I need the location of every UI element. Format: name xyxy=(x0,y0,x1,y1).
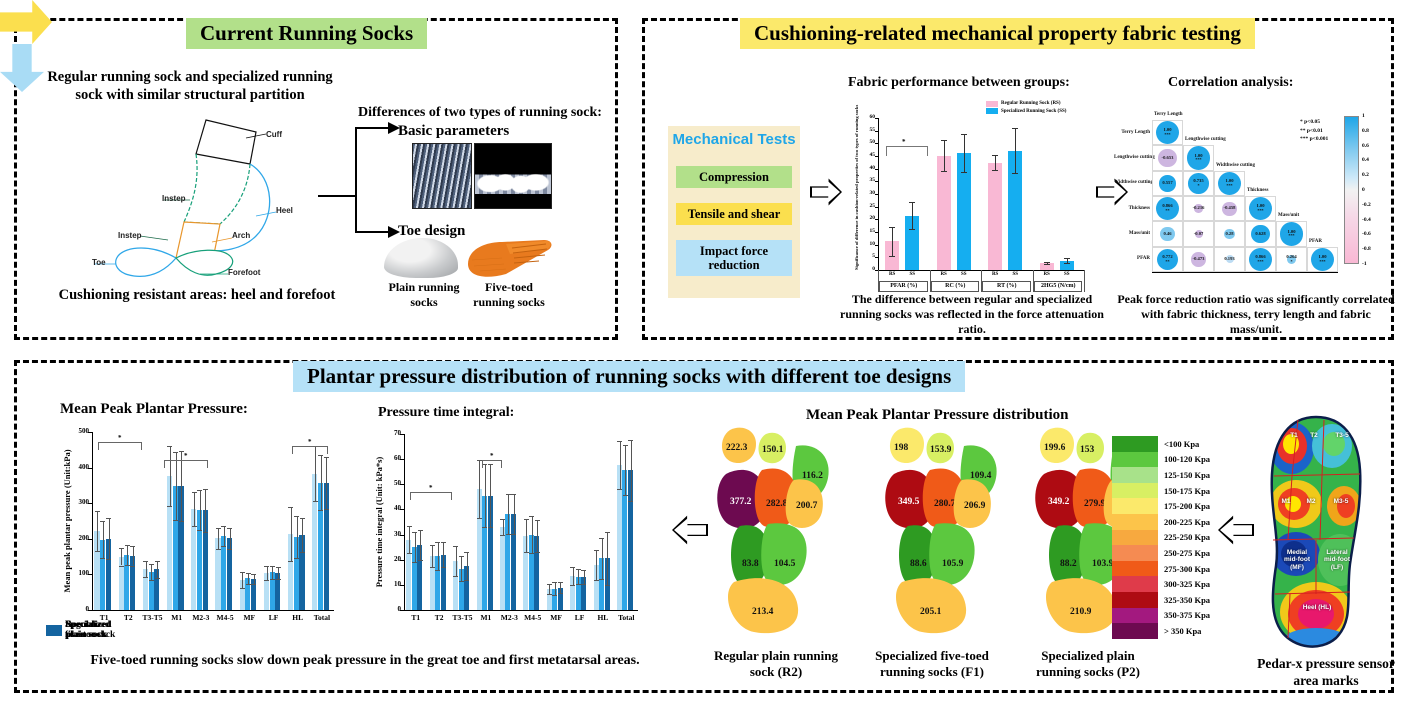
error-cap xyxy=(430,545,435,546)
error-cap xyxy=(992,170,998,171)
sock-label-instep: Instep xyxy=(162,194,186,203)
error-bar xyxy=(97,511,98,550)
category-label: 2HG5 (N/cm) xyxy=(1033,283,1085,289)
y-tick: 70 xyxy=(384,429,401,437)
corr-cell: -0.473 xyxy=(1191,252,1206,267)
y-tick: 30 xyxy=(861,190,875,196)
error-cap xyxy=(453,576,458,577)
error-bar xyxy=(578,569,579,584)
pressure-legend-row: 325-350 Kpa xyxy=(1112,592,1216,608)
error-cap xyxy=(418,530,423,531)
sock-label-heel: Heel xyxy=(276,206,293,215)
pressure-color-legend: <100 Kpa100-120 Kpa125-150 Kpa150-175 Kp… xyxy=(1112,436,1216,639)
bar-M4-5 xyxy=(221,536,226,610)
error-cap xyxy=(599,538,604,539)
distribution-heading: Mean Peak Plantar Pressure distribution xyxy=(806,406,1069,425)
pressure-legend-label: 325-350 Kpa xyxy=(1164,595,1210,605)
pressure-legend-row: > 350 Kpa xyxy=(1112,623,1216,639)
scale-tick: 0.2 xyxy=(1362,172,1369,178)
scale-tick: -1 xyxy=(1362,261,1367,267)
error-cap xyxy=(203,532,208,533)
error-cap xyxy=(1064,258,1070,259)
error-cap xyxy=(524,552,529,553)
error-cap xyxy=(106,518,111,519)
significance-marker: * xyxy=(184,452,188,460)
category-label: Total xyxy=(615,613,638,622)
significance-legend-row: * p<0.05 xyxy=(1300,118,1328,127)
foot-value-M1: 349.5 xyxy=(898,497,920,507)
error-bar xyxy=(596,550,597,580)
error-cap xyxy=(143,561,148,562)
foot-value-MF: 88.2 xyxy=(1060,559,1077,569)
sub-label: RS xyxy=(885,272,899,277)
chip-impact-force-reduction: Impact force reduction xyxy=(676,240,792,276)
error-cap xyxy=(941,171,947,172)
scale-tick: 1 xyxy=(1362,113,1365,119)
y-tick-mark xyxy=(875,143,878,144)
error-cap xyxy=(95,551,100,552)
y-tick: 40 xyxy=(861,165,875,171)
error-cap xyxy=(216,549,221,550)
y-tick: 40 xyxy=(384,504,401,512)
error-bar xyxy=(532,516,533,554)
error-cap xyxy=(173,520,178,521)
error-bar xyxy=(420,530,421,560)
error-cap xyxy=(240,572,245,573)
scale-tick: 0.4 xyxy=(1362,157,1369,163)
y-tick-mark xyxy=(88,432,92,433)
error-cap xyxy=(617,489,622,490)
corr-col-label: Widthwise cutting xyxy=(1216,163,1255,168)
error-cap xyxy=(617,441,622,442)
error-cap xyxy=(628,440,633,441)
error-bar xyxy=(151,564,152,580)
error-cap xyxy=(203,489,208,490)
error-cap xyxy=(155,561,160,562)
corr-significance: *** xyxy=(1288,234,1294,238)
sock-label-forefoot: Forefoot xyxy=(228,268,260,277)
legend-swatch xyxy=(46,625,62,636)
y-tick-mark xyxy=(875,194,878,195)
error-cap xyxy=(407,553,412,554)
error-cap xyxy=(264,580,269,581)
error-cap xyxy=(300,552,305,553)
y-tick: 400 xyxy=(72,463,89,471)
y-tick: 10 xyxy=(384,580,401,588)
category-label: M1 xyxy=(165,613,189,622)
pressure-swatch xyxy=(1112,436,1158,452)
x-axis xyxy=(404,610,638,611)
y-tick-mark xyxy=(400,509,404,510)
corr-cell: 1.00*** xyxy=(1187,146,1210,169)
foot-value-M4-5: 200.7 xyxy=(796,501,818,511)
pressure-legend-row: 350-375 Kpa xyxy=(1112,608,1216,624)
error-bar xyxy=(326,457,327,508)
significance-marker: * xyxy=(490,452,494,460)
error-bar xyxy=(200,490,201,529)
error-bar xyxy=(127,545,128,565)
pressure-legend-row: 250-275 Kpa xyxy=(1112,545,1216,561)
legend-label: Specialized Running Sock (SS) xyxy=(1001,108,1066,116)
y-tick: 0 xyxy=(384,605,401,613)
error-cap xyxy=(119,548,124,549)
corr-row-label: Lengthwise cutting xyxy=(1114,155,1150,160)
error-cap xyxy=(961,134,967,135)
corr-cell: 0.557 xyxy=(1159,175,1175,191)
legend-label: Specialized plain sock xyxy=(66,620,121,640)
error-cap xyxy=(961,172,967,173)
error-cap xyxy=(552,595,557,596)
foot-value-LF: 105.9 xyxy=(942,559,964,569)
y-tick-mark xyxy=(88,503,92,504)
corr-cell: -0.216 xyxy=(1194,204,1203,213)
y-tick-mark xyxy=(875,156,878,157)
sub-label: RS xyxy=(988,272,1002,277)
corr-cell: 0.772** xyxy=(1157,249,1178,270)
error-cap xyxy=(441,567,446,568)
error-bar xyxy=(467,552,468,580)
error-bar xyxy=(254,574,255,584)
error-cap xyxy=(288,507,293,508)
y-tick: 50 xyxy=(861,139,875,145)
error-cap xyxy=(558,582,563,583)
fabric-performance-caption: The difference between regular and speci… xyxy=(838,292,1106,337)
corr-value: 0.193 xyxy=(1224,257,1234,262)
category-label: MF xyxy=(237,613,261,622)
corr-value: 0.28 xyxy=(1225,232,1233,237)
group-divider xyxy=(930,270,931,292)
pressure-legend-label: 100-120 Kpa xyxy=(1164,454,1210,464)
error-bar xyxy=(560,582,561,593)
error-cap xyxy=(143,577,148,578)
fabric-ylabel: Significance of difference in cushion-re… xyxy=(854,118,859,270)
pedar-zone-m1: M1 xyxy=(1277,498,1295,505)
corr-row-label: PFAR xyxy=(1114,256,1150,261)
corr-value: -0.07 xyxy=(1194,232,1204,237)
pressure-legend-label: <100 Kpa xyxy=(1164,439,1199,449)
corr-cell: -0.653 xyxy=(1158,149,1177,168)
error-cap xyxy=(300,518,305,519)
legend-item: Regular Running Sock (RS) xyxy=(986,100,1066,108)
corr-col-label: Mass/unit xyxy=(1278,213,1299,218)
category-label: M4-5 xyxy=(521,613,544,622)
error-cap xyxy=(179,451,184,452)
bar-M2-3 xyxy=(500,527,505,610)
correlation-color-scale xyxy=(1344,116,1359,264)
category-label: M1 xyxy=(474,613,497,622)
scale-tick: -0.8 xyxy=(1362,246,1371,252)
error-bar xyxy=(267,566,268,580)
pedar-zone-m3-5: M3-5 xyxy=(1328,498,1354,505)
error-cap xyxy=(106,559,111,560)
correlation-significance-legend: * p<0.05** p<0.01*** p<0.001 xyxy=(1300,118,1328,144)
differences-title: Differences of two types of running sock… xyxy=(358,104,602,122)
error-bar xyxy=(133,546,134,566)
pressure-swatch xyxy=(1112,623,1158,639)
error-bar xyxy=(302,518,303,552)
error-cap xyxy=(529,553,534,554)
pressure-swatch xyxy=(1112,608,1158,624)
error-bar xyxy=(944,140,945,172)
significance-bracket xyxy=(410,492,452,500)
category-label: LF xyxy=(261,613,285,622)
error-cap xyxy=(130,566,135,567)
error-cap xyxy=(889,227,895,228)
foot-value-T1: 199.6 xyxy=(1044,443,1066,453)
y-tick: 0 xyxy=(72,605,89,613)
error-cap xyxy=(1044,262,1050,263)
error-cap xyxy=(149,564,154,565)
error-cap xyxy=(412,532,417,533)
pressure-swatch xyxy=(1112,467,1158,483)
pedar-zone-t2: T2 xyxy=(1306,432,1322,439)
corr-value: 0.557 xyxy=(1162,181,1172,186)
pressure-legend-label: 150-175 Kpa xyxy=(1164,486,1210,496)
error-cap xyxy=(155,578,160,579)
banner-cushioning-fabric-testing: Cushioning-related mechanical property f… xyxy=(740,18,1255,49)
foot-value-MF: 88.6 xyxy=(910,559,927,569)
pti-heading: Pressure time integral: xyxy=(378,404,514,422)
sub-label: SS xyxy=(957,272,971,277)
error-bar xyxy=(157,561,158,579)
corr-col-label: Lengthwise cutting xyxy=(1185,137,1226,142)
scale-tick: -0.2 xyxy=(1362,202,1371,208)
error-cap xyxy=(324,457,329,458)
foot-value-M2-3: 282.8 xyxy=(766,499,788,509)
pressure-legend-label: 225-250 Kpa xyxy=(1164,532,1210,542)
corr-cell: 0.193 xyxy=(1226,255,1234,263)
category-label: MF xyxy=(544,613,567,622)
error-cap xyxy=(407,526,412,527)
corr-value: 0.628 xyxy=(1255,232,1265,237)
pressure-swatch xyxy=(1112,545,1158,561)
error-cap xyxy=(511,494,516,495)
foot-value-M2-3: 279.9 xyxy=(1084,499,1106,509)
error-cap xyxy=(294,558,299,559)
error-cap xyxy=(941,140,947,141)
branch-basic-parameters: Basic parameters xyxy=(398,122,509,141)
error-bar xyxy=(109,518,110,559)
error-cap xyxy=(464,580,469,581)
error-cap xyxy=(251,584,256,585)
error-cap xyxy=(264,566,269,567)
fabric-micrograph-terry xyxy=(474,143,552,209)
sock-label-toe: Toe xyxy=(92,258,106,267)
y-tick-mark xyxy=(875,207,878,208)
pedar-zone-t1: T1 xyxy=(1286,432,1302,439)
error-bar xyxy=(625,445,626,495)
foot-value-M4-5: 206.9 xyxy=(964,501,986,511)
foot-caption-p2: Specialized plain running socks (P2) xyxy=(1018,648,1158,681)
scale-tick: 0.6 xyxy=(1362,143,1369,149)
error-bar xyxy=(490,464,491,527)
error-cap xyxy=(221,546,226,547)
pressure-swatch xyxy=(1112,498,1158,514)
error-bar xyxy=(479,460,480,518)
category-label: HL xyxy=(591,613,614,622)
error-cap xyxy=(227,549,232,550)
corr-cell: 0.28 xyxy=(1224,229,1234,239)
foot-caption-f1: Specialized five-toed running socks (F1) xyxy=(862,648,1002,681)
error-bar xyxy=(315,446,316,502)
corr-row-label: Widthwise cutting xyxy=(1114,180,1150,185)
pedar-zone-hl: Heel (HL) xyxy=(1300,604,1334,611)
error-cap xyxy=(623,495,628,496)
error-cap xyxy=(318,455,323,456)
y-tick-mark xyxy=(88,468,92,469)
corr-row-label: Mass/unit xyxy=(1114,231,1150,236)
pedar-zone-mf: Medial mid-foot (MF) xyxy=(1280,549,1314,571)
error-cap xyxy=(119,566,124,567)
banner-plantar-pressure: Plantar pressure distribution of running… xyxy=(293,361,965,392)
group-divider xyxy=(981,270,982,292)
corr-cell: 0.264* xyxy=(1287,255,1297,265)
pressure-legend-label: 175-200 Kpa xyxy=(1164,501,1210,511)
y-tick: 35 xyxy=(861,177,875,183)
pressure-legend-row: 175-200 Kpa xyxy=(1112,498,1216,514)
error-bar xyxy=(321,455,322,511)
error-cap xyxy=(270,566,275,567)
pedar-insole-map: T1 T2 T3-5 M1 M2 M3-5 Medial mid-foot (M… xyxy=(1262,414,1370,650)
corr-cell: 0.866*** xyxy=(1249,248,1272,271)
foot-value-HL: 205.1 xyxy=(920,607,942,617)
error-bar xyxy=(121,548,122,566)
y-tick-mark xyxy=(400,459,404,460)
corr-cell: 0.735* xyxy=(1188,173,1209,194)
error-cap xyxy=(599,579,604,580)
error-cap xyxy=(488,527,493,528)
y-tick-mark xyxy=(88,539,92,540)
error-cap xyxy=(313,501,318,502)
y-tick-mark xyxy=(88,610,92,611)
category-label: M4-5 xyxy=(213,613,237,622)
five-toed-sock-photo xyxy=(466,234,554,280)
pressure-legend-row: <100 Kpa xyxy=(1112,436,1216,452)
corr-significance: * xyxy=(1290,260,1292,264)
error-cap xyxy=(216,528,221,529)
legend-swatch xyxy=(986,101,998,107)
y-tick-mark xyxy=(400,484,404,485)
top-left-heading: Regular running sock and specialized run… xyxy=(40,68,340,104)
error-cap xyxy=(167,506,172,507)
chart-ylabel: Pressure time integral (Unit: kPa*s) xyxy=(374,434,384,610)
y-tick-mark xyxy=(875,118,878,119)
pressure-legend-row: 225-250 Kpa xyxy=(1112,530,1216,546)
corr-col-label: PFAR xyxy=(1309,239,1322,244)
mechanical-tests-title: Mechanical Tests xyxy=(668,131,800,148)
error-cap xyxy=(605,532,610,533)
error-cap xyxy=(605,585,610,586)
significance-bracket xyxy=(164,460,208,468)
pressure-swatch xyxy=(1112,452,1158,468)
corr-significance: *** xyxy=(1164,133,1170,137)
significance-marker: * xyxy=(118,434,122,442)
y-tick-mark xyxy=(88,574,92,575)
error-bar xyxy=(1015,128,1016,174)
footmap-five-toed: 198153.9109.4349.5280.7206.988.6105.9205… xyxy=(880,424,1008,634)
foot-value-T1: 198 xyxy=(894,443,909,453)
foot-region-HL xyxy=(728,578,798,633)
y-tick: 45 xyxy=(861,152,875,158)
error-bar xyxy=(230,528,231,549)
y-tick: 55 xyxy=(861,127,875,133)
sub-label: SS xyxy=(1008,272,1022,277)
error-bar xyxy=(607,532,608,585)
scale-tick: 0.8 xyxy=(1362,128,1369,134)
error-cap xyxy=(594,550,599,551)
pressure-swatch xyxy=(1112,530,1158,546)
foot-value-LF: 103.9 xyxy=(1092,559,1114,569)
pedar-caption: Pedar-x pressure sensor area marks xyxy=(1256,656,1396,690)
y-tick: 20 xyxy=(384,555,401,563)
pressure-legend-row: 275-300 Kpa xyxy=(1112,561,1216,577)
category-label: HL xyxy=(286,613,310,622)
error-cap xyxy=(318,510,323,511)
error-bar xyxy=(573,567,574,585)
error-cap xyxy=(511,534,516,535)
y-tick-mark xyxy=(400,610,404,611)
error-bar xyxy=(103,521,104,558)
pedar-zone-lf: Lateral mid-foot (LF) xyxy=(1320,549,1354,571)
error-cap xyxy=(581,570,586,571)
error-cap xyxy=(435,570,440,571)
error-cap xyxy=(547,594,552,595)
sub-label: RS xyxy=(1040,272,1054,277)
y-tick: 0 xyxy=(861,266,875,272)
caption-five-toed-socks: Five-toed running socks xyxy=(466,280,552,310)
sub-label: SS xyxy=(905,272,919,277)
error-bar xyxy=(555,582,556,595)
pressure-legend-label: 125-150 Kpa xyxy=(1164,470,1210,480)
error-cap xyxy=(576,569,581,570)
corr-value: -0.458 xyxy=(1224,206,1236,211)
error-bar xyxy=(443,542,444,567)
pressure-time-integral-chart: 010203040506070Pressure time integral (U… xyxy=(404,434,638,610)
error-bar xyxy=(892,227,893,256)
corr-significance: ** xyxy=(1165,260,1169,264)
error-bar xyxy=(964,134,965,172)
foot-region-HL xyxy=(1046,578,1116,633)
error-cap xyxy=(500,535,505,536)
error-cap xyxy=(167,446,172,447)
pressure-swatch xyxy=(1112,592,1158,608)
error-cap xyxy=(500,519,505,520)
y-tick-mark xyxy=(400,434,404,435)
group-divider xyxy=(878,270,879,292)
y-tick: 15 xyxy=(861,228,875,234)
y-tick-mark xyxy=(875,257,878,258)
category-label: M2-3 xyxy=(189,613,213,622)
banner-current-running-socks: Current Running Socks xyxy=(186,18,427,49)
error-bar xyxy=(461,556,462,581)
pressure-legend-row: 100-120 Kpa xyxy=(1112,452,1216,468)
x-axis xyxy=(92,610,334,611)
error-cap xyxy=(506,534,511,535)
significance-marker: * xyxy=(308,438,312,446)
corr-col-label: Terry Length xyxy=(1154,112,1183,117)
pressure-legend-label: 275-300 Kpa xyxy=(1164,564,1210,574)
error-cap xyxy=(95,511,100,512)
y-tick: 20 xyxy=(861,215,875,221)
error-bar xyxy=(218,528,219,549)
fabric-micrograph-regular xyxy=(412,143,472,209)
y-axis xyxy=(878,118,879,270)
chip-tensile-shear: Tensile and shear xyxy=(676,203,792,225)
foot-value-M1: 349.2 xyxy=(1048,497,1070,507)
y-tick: 10 xyxy=(861,241,875,247)
corr-significance: ** xyxy=(1165,209,1169,213)
branch-connector xyxy=(316,120,402,240)
